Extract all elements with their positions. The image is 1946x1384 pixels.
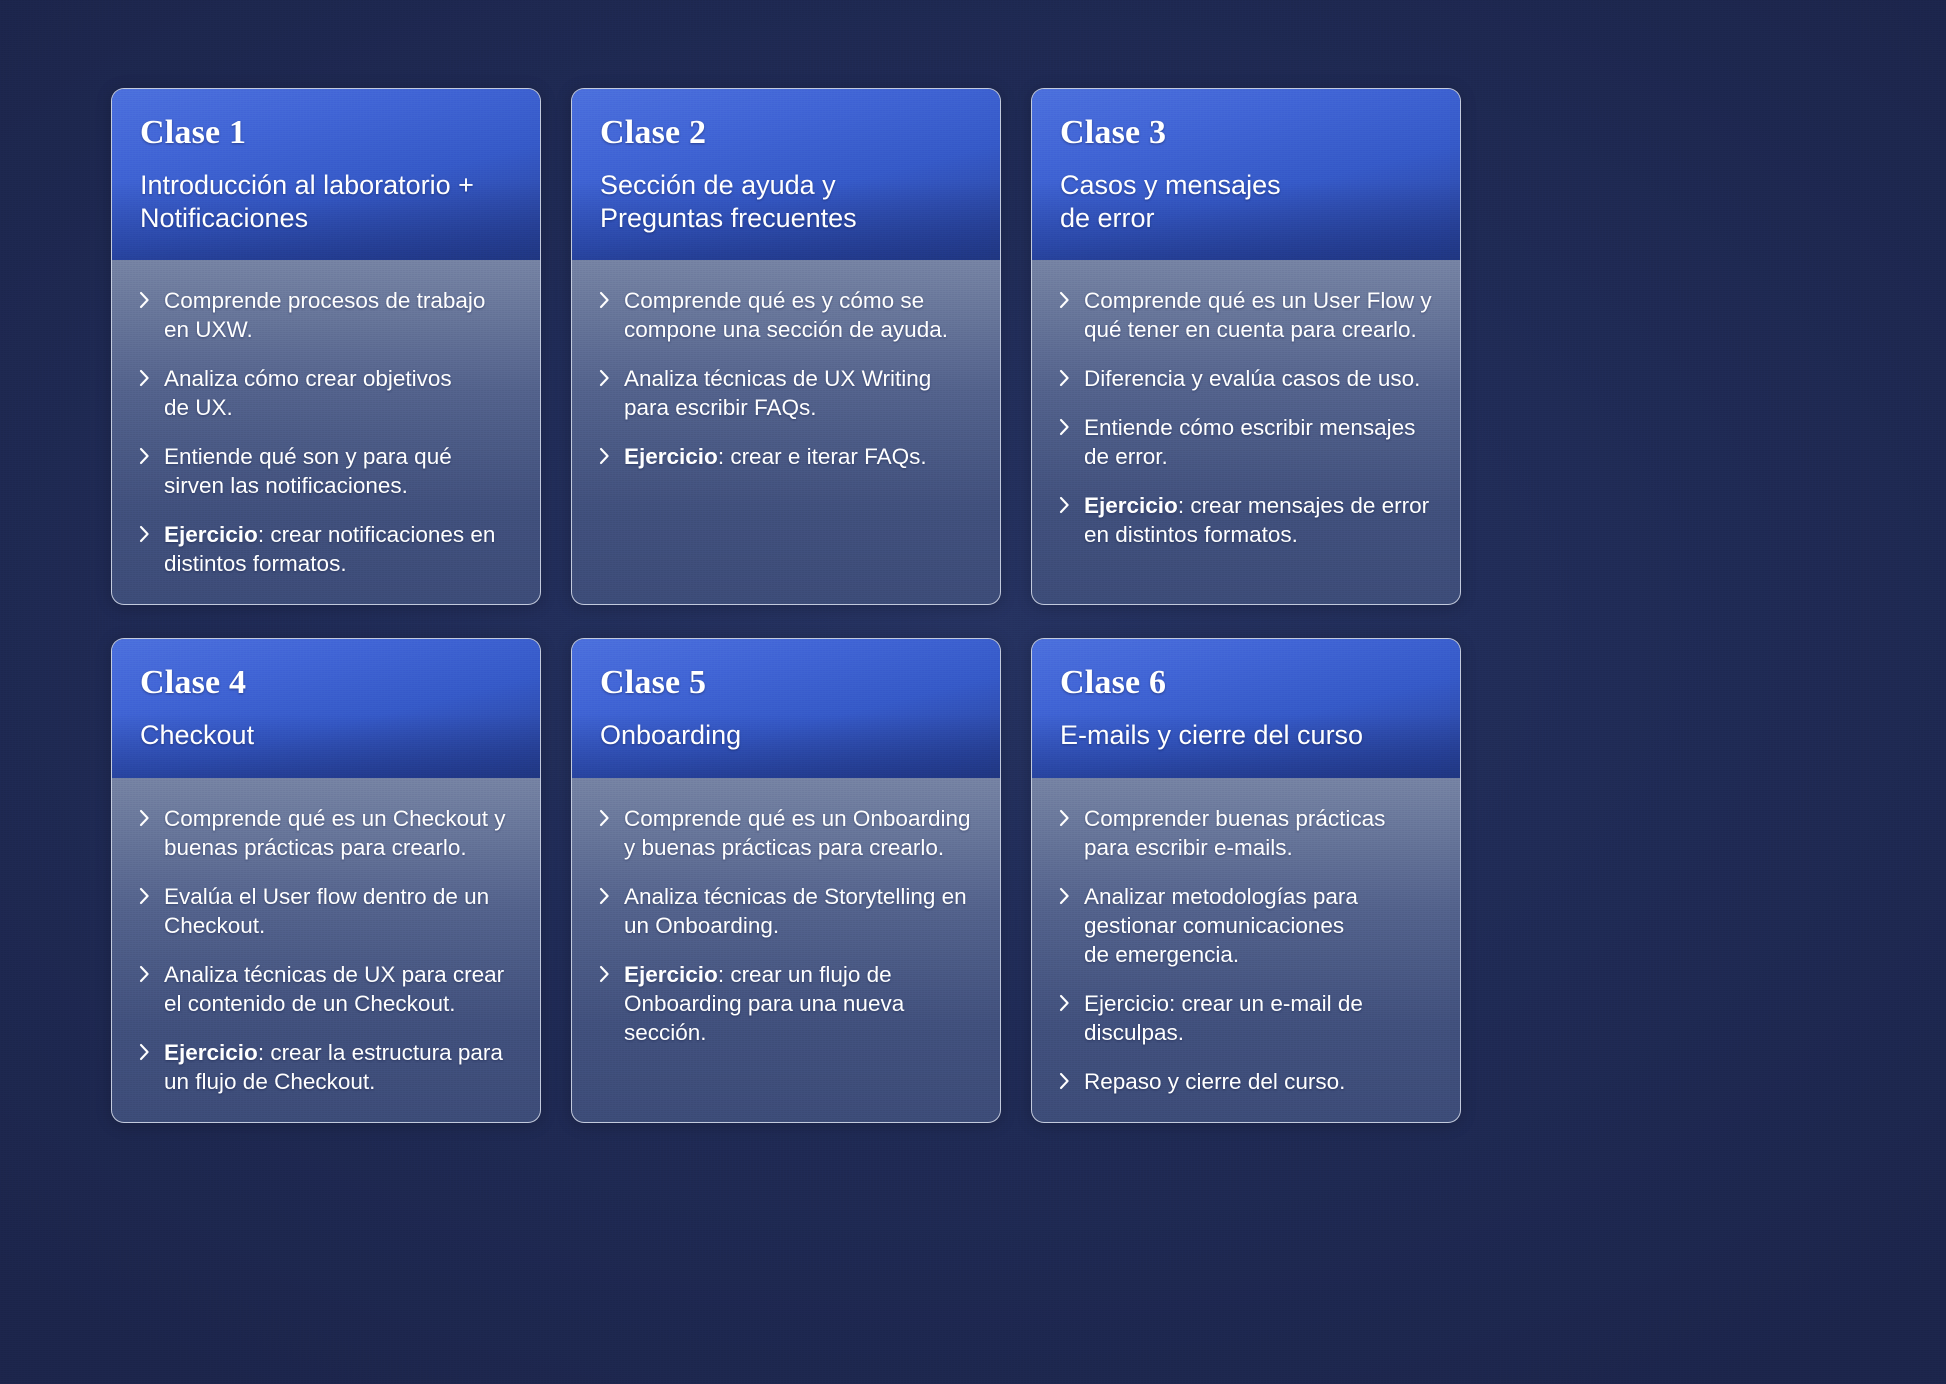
class-card[interactable]: Clase 6E-mails y cierre del cursoCompren… <box>1031 638 1461 1123</box>
chevron-right-icon <box>138 287 151 313</box>
card-class-number: Clase 4 <box>140 666 516 700</box>
list-item: Analiza cómo crear objetivos de UX. <box>138 364 518 422</box>
list-item: Comprende qué es un Checkout y buenas pr… <box>138 804 518 862</box>
card-subject-title: Onboarding <box>600 719 976 752</box>
chevron-right-icon <box>598 365 611 391</box>
chevron-right-icon <box>1058 990 1071 1016</box>
card-body: Comprende qué es un Checkout y buenas pr… <box>112 778 540 1122</box>
class-card[interactable]: Clase 5OnboardingComprende qué es un Onb… <box>571 638 1001 1123</box>
list-item: Analiza técnicas de UX Writing para escr… <box>598 364 978 422</box>
list-item: Comprende procesos de trabajo en UXW. <box>138 286 518 344</box>
card-subject-title: Introducción al laboratorio + Notificaci… <box>140 169 516 234</box>
chevron-right-icon <box>1058 414 1071 440</box>
chevron-right-icon <box>598 287 611 313</box>
bullet-label-strong: Ejercicio <box>624 962 718 987</box>
list-item: Ejercicio: crear un flujo de Onboarding … <box>598 960 978 1047</box>
chevron-right-icon <box>598 883 611 909</box>
bullet-label-strong: Ejercicio <box>164 1040 258 1065</box>
list-item: Ejercicio: crear mensajes de error en di… <box>1058 491 1438 549</box>
bullet-text: Comprende procesos de trabajo en UXW. <box>164 286 485 344</box>
bullet-text: Analizar metodologías para gestionar com… <box>1084 882 1358 969</box>
list-item: Analiza técnicas de Storytelling en un O… <box>598 882 978 940</box>
class-cards-grid: Clase 1Introducción al laboratorio + Not… <box>111 88 1461 1123</box>
card-header: Clase 1Introducción al laboratorio + Not… <box>112 89 540 260</box>
chevron-right-icon <box>138 365 151 391</box>
card-body: Comprende qué es un Onboarding y buenas … <box>572 778 1000 1122</box>
list-item: Ejercicio: crear un e-mail de disculpas. <box>1058 989 1438 1047</box>
bullet-text: Ejercicio: crear mensajes de error en di… <box>1084 491 1429 549</box>
card-bullet-list: Comprende qué es y cómo se compone una s… <box>598 286 978 471</box>
chevron-right-icon <box>598 961 611 987</box>
bullet-text: Ejercicio: crear la estructura para un f… <box>164 1038 503 1096</box>
bullet-text: Comprende qué es un Onboarding y buenas … <box>624 804 971 862</box>
bullet-text: Entiende qué son y para qué sirven las n… <box>164 442 452 500</box>
card-body: Comprende qué es y cómo se compone una s… <box>572 260 1000 604</box>
bullet-text: Entiende cómo escribir mensajes de error… <box>1084 413 1415 471</box>
bullet-text: Evalúa el User flow dentro de un Checkou… <box>164 882 489 940</box>
card-header: Clase 4Checkout <box>112 639 540 778</box>
bullet-text: Analiza técnicas de Storytelling en un O… <box>624 882 967 940</box>
card-subject-title: Checkout <box>140 719 516 752</box>
bullet-text: Analiza técnicas de UX Writing para escr… <box>624 364 931 422</box>
card-subject-title: Sección de ayuda y Preguntas frecuentes <box>600 169 976 234</box>
card-body: Comprender buenas prácticas para escribi… <box>1032 778 1460 1122</box>
card-bullet-list: Comprende qué es un Checkout y buenas pr… <box>138 804 518 1096</box>
chevron-right-icon <box>138 805 151 831</box>
card-body: Comprende qué es un User Flow y qué tene… <box>1032 260 1460 604</box>
class-card[interactable]: Clase 4CheckoutComprende qué es un Check… <box>111 638 541 1123</box>
list-item: Entiende qué son y para qué sirven las n… <box>138 442 518 500</box>
list-item: Comprende qué es un User Flow y qué tene… <box>1058 286 1438 344</box>
chevron-right-icon <box>1058 365 1071 391</box>
list-item: Analiza técnicas de UX para crear el con… <box>138 960 518 1018</box>
bullet-label-strong: Ejercicio <box>1084 493 1178 518</box>
class-card[interactable]: Clase 2Sección de ayuda y Preguntas frec… <box>571 88 1001 605</box>
list-item: Comprende qué es y cómo se compone una s… <box>598 286 978 344</box>
list-item: Repaso y cierre del curso. <box>1058 1067 1438 1096</box>
card-class-number: Clase 6 <box>1060 666 1436 700</box>
bullet-text: Comprender buenas prácticas para escribi… <box>1084 804 1385 862</box>
list-item: Entiende cómo escribir mensajes de error… <box>1058 413 1438 471</box>
chevron-right-icon <box>1058 492 1071 518</box>
chevron-right-icon <box>598 805 611 831</box>
chevron-right-icon <box>1058 1068 1071 1094</box>
list-item: Evalúa el User flow dentro de un Checkou… <box>138 882 518 940</box>
card-class-number: Clase 1 <box>140 116 516 150</box>
chevron-right-icon <box>1058 287 1071 313</box>
chevron-right-icon <box>598 443 611 469</box>
chevron-right-icon <box>138 1039 151 1065</box>
bullet-text: Comprende qué es un Checkout y buenas pr… <box>164 804 505 862</box>
bullet-text: Comprende qué es y cómo se compone una s… <box>624 286 948 344</box>
bullet-text: Analiza cómo crear objetivos de UX. <box>164 364 452 422</box>
bullet-text-rest: : crear e iterar FAQs. <box>718 444 927 469</box>
card-header: Clase 3Casos y mensajes de error <box>1032 89 1460 260</box>
bullet-label-strong: Ejercicio <box>164 522 258 547</box>
card-bullet-list: Comprende procesos de trabajo en UXW.Ana… <box>138 286 518 578</box>
chevron-right-icon <box>138 443 151 469</box>
card-subject-title: E-mails y cierre del curso <box>1060 719 1436 752</box>
bullet-text: Comprende qué es un User Flow y qué tene… <box>1084 286 1432 344</box>
card-bullet-list: Comprender buenas prácticas para escribi… <box>1058 804 1438 1096</box>
list-item: Ejercicio: crear e iterar FAQs. <box>598 442 978 471</box>
card-class-number: Clase 2 <box>600 116 976 150</box>
bullet-text: Ejercicio: crear un e-mail de disculpas. <box>1084 989 1363 1047</box>
list-item: Comprender buenas prácticas para escribi… <box>1058 804 1438 862</box>
bullet-text: Analiza técnicas de UX para crear el con… <box>164 960 504 1018</box>
chevron-right-icon <box>1058 805 1071 831</box>
card-header: Clase 6E-mails y cierre del curso <box>1032 639 1460 778</box>
list-item: Ejercicio: crear la estructura para un f… <box>138 1038 518 1096</box>
list-item: Comprende qué es un Onboarding y buenas … <box>598 804 978 862</box>
card-subject-title: Casos y mensajes de error <box>1060 169 1436 234</box>
bullet-text: Repaso y cierre del curso. <box>1084 1067 1345 1096</box>
bullet-text: Diferencia y evalúa casos de uso. <box>1084 364 1420 393</box>
chevron-right-icon <box>138 521 151 547</box>
card-body: Comprende procesos de trabajo en UXW.Ana… <box>112 260 540 604</box>
card-bullet-list: Comprende qué es un User Flow y qué tene… <box>1058 286 1438 549</box>
class-card[interactable]: Clase 1Introducción al laboratorio + Not… <box>111 88 541 605</box>
chevron-right-icon <box>138 883 151 909</box>
card-bullet-list: Comprende qué es un Onboarding y buenas … <box>598 804 978 1047</box>
bullet-text: Ejercicio: crear notificaciones en disti… <box>164 520 495 578</box>
list-item: Diferencia y evalúa casos de uso. <box>1058 364 1438 393</box>
card-header: Clase 5Onboarding <box>572 639 1000 778</box>
bullet-text: Ejercicio: crear un flujo de Onboarding … <box>624 960 904 1047</box>
list-item: Analizar metodologías para gestionar com… <box>1058 882 1438 969</box>
card-header: Clase 2Sección de ayuda y Preguntas frec… <box>572 89 1000 260</box>
chevron-right-icon <box>138 961 151 987</box>
bullet-label-strong: Ejercicio <box>624 444 718 469</box>
bullet-text: Ejercicio: crear e iterar FAQs. <box>624 442 927 471</box>
chevron-right-icon <box>1058 883 1071 909</box>
list-item: Ejercicio: crear notificaciones en disti… <box>138 520 518 578</box>
card-class-number: Clase 5 <box>600 666 976 700</box>
class-card[interactable]: Clase 3Casos y mensajes de errorComprend… <box>1031 88 1461 605</box>
card-class-number: Clase 3 <box>1060 116 1436 150</box>
